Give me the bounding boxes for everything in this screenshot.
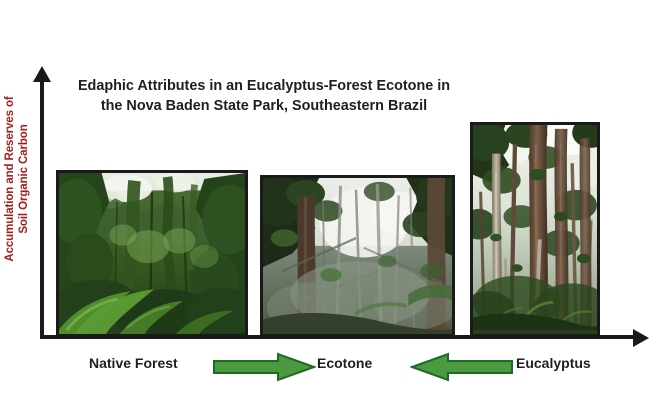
category-label-ecotone: Ecotone	[317, 355, 372, 371]
arrow-left-icon	[410, 352, 514, 382]
y-axis-label: Accumulation and Reserves of Soil Organi…	[3, 89, 31, 269]
x-axis-arrow-icon	[633, 329, 649, 347]
y-axis-line	[40, 78, 44, 339]
y-axis-arrow-icon	[33, 66, 51, 82]
arrow-right-icon	[212, 352, 316, 382]
category-label-native-forest: Native Forest	[89, 355, 178, 371]
photo-ecotone	[260, 175, 455, 337]
photo-ecotone-image	[263, 178, 452, 335]
photo-native-forest-image	[59, 173, 245, 335]
figure-canvas: Accumulation and Reserves of Soil Organi…	[0, 0, 655, 403]
category-label-eucalyptus: Eucalyptus	[516, 355, 591, 371]
arrow-right-shape	[212, 352, 316, 382]
page-title: Edaphic Attributes in an Eucalyptus-Fore…	[68, 76, 460, 116]
photo-eucalyptus-image	[473, 125, 597, 330]
photo-native-forest	[56, 170, 248, 337]
arrow-left-shape	[410, 352, 514, 382]
photo-eucalyptus	[470, 122, 600, 337]
